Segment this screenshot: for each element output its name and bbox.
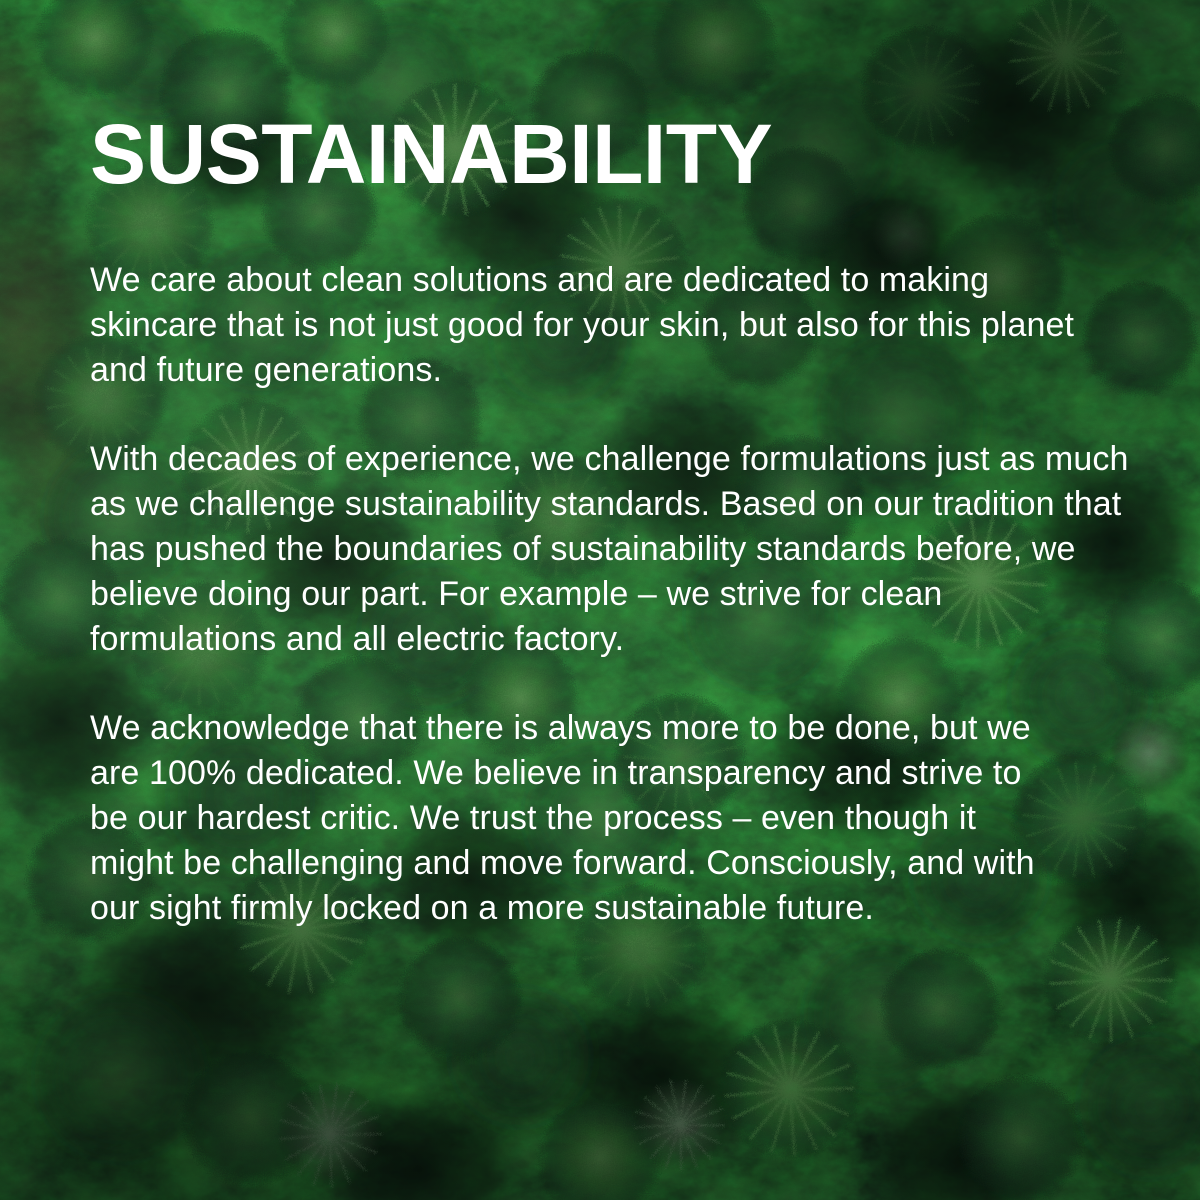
page-title: SUSTAINABILITY — [90, 0, 1136, 196]
sustainability-card: SUSTAINABILITY We care about clean solut… — [0, 0, 1200, 1200]
body-paragraph-2: With decades of experience, we challenge… — [90, 437, 1130, 662]
body-paragraph-3: We acknowledge that there is always more… — [90, 706, 1050, 931]
body-copy: We care about clean solutions and are de… — [90, 258, 1130, 931]
body-paragraph-1: We care about clean solutions and are de… — [90, 258, 1110, 393]
content-column: SUSTAINABILITY We care about clean solut… — [90, 0, 1136, 1200]
